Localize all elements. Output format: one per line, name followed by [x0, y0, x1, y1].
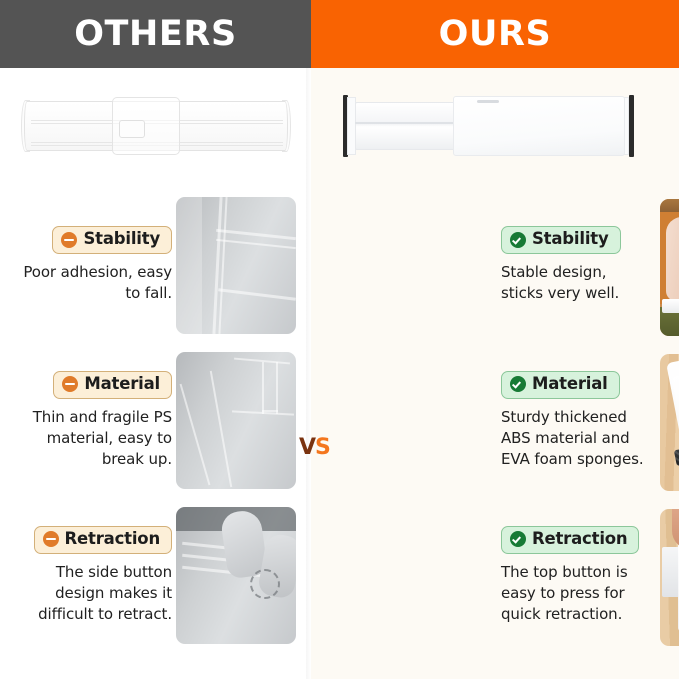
comparison-row-stability: Stability Poor adhesion, easy to fall. V…: [0, 188, 679, 343]
badge-ours-material: Material: [501, 371, 620, 399]
photo-edge: [218, 288, 296, 300]
badge-label: Material: [532, 375, 608, 394]
photo-white-divider-horizontal: [662, 299, 679, 313]
row-stability-ours-copy: Stability Stable design, sticks very wel…: [501, 226, 651, 305]
photo-edge: [262, 410, 278, 412]
thumbnail-others-retraction: [176, 507, 296, 644]
thumbnail-ours-material-wrap: [650, 343, 679, 498]
row-stability-ours-description: Stable design, sticks very well.: [501, 262, 651, 305]
badge-label: Stability: [83, 230, 160, 249]
badge-label: Material: [84, 375, 160, 394]
photo-hand-top: [672, 509, 679, 549]
thumbnail-ours-material: [660, 354, 679, 491]
photo-edge: [262, 362, 264, 414]
badge-label: Retraction: [65, 530, 160, 549]
white-divider-main-panel: [453, 96, 625, 156]
photo-highlight-ring: [250, 569, 280, 599]
row-material-others: Material Thin and fragile PS material, e…: [0, 343, 306, 498]
photo-hands-side-button: [176, 507, 296, 644]
row-retraction-ours: Retraction The top button is easy to pre…: [320, 498, 679, 653]
comparison-row-retraction: Retraction The side button design makes …: [0, 498, 679, 653]
row-material-ours-copy: Material Sturdy thickened ABS material a…: [501, 371, 651, 471]
photo-edge: [216, 229, 296, 240]
header-others-title: OTHERS: [74, 17, 237, 52]
row-stability-others-copy: Stability Poor adhesion, easy to fall.: [22, 226, 172, 305]
minus-circle-icon: [43, 531, 59, 547]
badge-others-material: Material: [53, 371, 172, 399]
row-retraction-others: Retraction The side button design makes …: [0, 498, 306, 653]
badge-ours-stability: Stability: [501, 226, 621, 254]
badge-others-retraction: Retraction: [34, 526, 172, 554]
thumbnail-ours-retraction: [660, 509, 679, 646]
photo-divider-arm: [662, 547, 679, 597]
header-others: OTHERS: [0, 0, 311, 68]
thumbnail-ours-stability-wrap: [650, 188, 679, 343]
check-circle-icon: [510, 376, 526, 392]
white-divider-right-foam-edge: [629, 95, 634, 157]
row-retraction-ours-copy: Retraction The top button is easy to pre…: [501, 526, 651, 626]
row-stability-others-description: Poor adhesion, easy to fall.: [22, 262, 172, 305]
clear-divider-side-button: [119, 120, 145, 138]
photo-edge: [180, 384, 211, 485]
photo-thin-cracked-plastic: [176, 352, 296, 489]
thumbnail-others-material: [176, 352, 296, 489]
badge-label: Retraction: [532, 530, 627, 549]
photo-abs-panel-on-wood: [660, 354, 679, 491]
thumbnail-others-stability: [176, 197, 296, 334]
row-retraction-ours-description: The top button is easy to press for quic…: [501, 562, 651, 626]
badge-others-stability: Stability: [52, 226, 172, 254]
photo-highlight: [176, 197, 202, 334]
row-material-ours: Material Sturdy thickened ABS material a…: [320, 343, 679, 498]
photo-drawer-rolled-clothes: [660, 199, 679, 336]
photo-clear-divider-leaning: [176, 197, 296, 334]
photo-drawer-back: [660, 199, 679, 212]
comparison-row-material: Material Thin and fragile PS material, e…: [0, 343, 679, 498]
header-ours-title: OURS: [439, 17, 552, 52]
header-ours: OURS: [311, 0, 679, 68]
row-stability-ours: Stability Stable design, sticks very wel…: [320, 188, 679, 343]
minus-circle-icon: [61, 232, 77, 248]
photo-edge: [216, 239, 296, 249]
photo-edge: [210, 371, 232, 488]
badge-ours-retraction: Retraction: [501, 526, 639, 554]
white-divider-top-button: [477, 100, 499, 103]
check-circle-icon: [510, 531, 526, 547]
row-retraction-others-description: The side button design makes it difficul…: [22, 562, 172, 626]
hero-image-others-clear-divider: [24, 97, 288, 155]
row-retraction-others-copy: Retraction The side button design makes …: [22, 526, 172, 626]
hero-image-ours-white-divider: [341, 95, 657, 157]
photo-edge: [276, 362, 278, 414]
comparison-infographic: OTHERS OURS: [0, 0, 679, 679]
photo-clothing-roll: [666, 217, 679, 301]
minus-circle-icon: [62, 376, 78, 392]
photo-hand-pressing-top-button: [660, 509, 679, 646]
header-bar: OTHERS OURS: [0, 0, 679, 68]
hero-product-row: [0, 68, 679, 188]
thumbnail-ours-retraction-wrap: [650, 498, 679, 653]
row-stability-others: Stability Poor adhesion, easy to fall.: [0, 188, 306, 343]
row-material-ours-description: Sturdy thickened ABS material and EVA fo…: [501, 407, 651, 471]
row-material-others-description: Thin and fragile PS material, easy to br…: [22, 407, 172, 471]
thumbnail-ours-stability: [660, 199, 679, 336]
row-material-others-copy: Material Thin and fragile PS material, e…: [22, 371, 172, 471]
badge-label: Stability: [532, 230, 609, 249]
check-circle-icon: [510, 232, 526, 248]
